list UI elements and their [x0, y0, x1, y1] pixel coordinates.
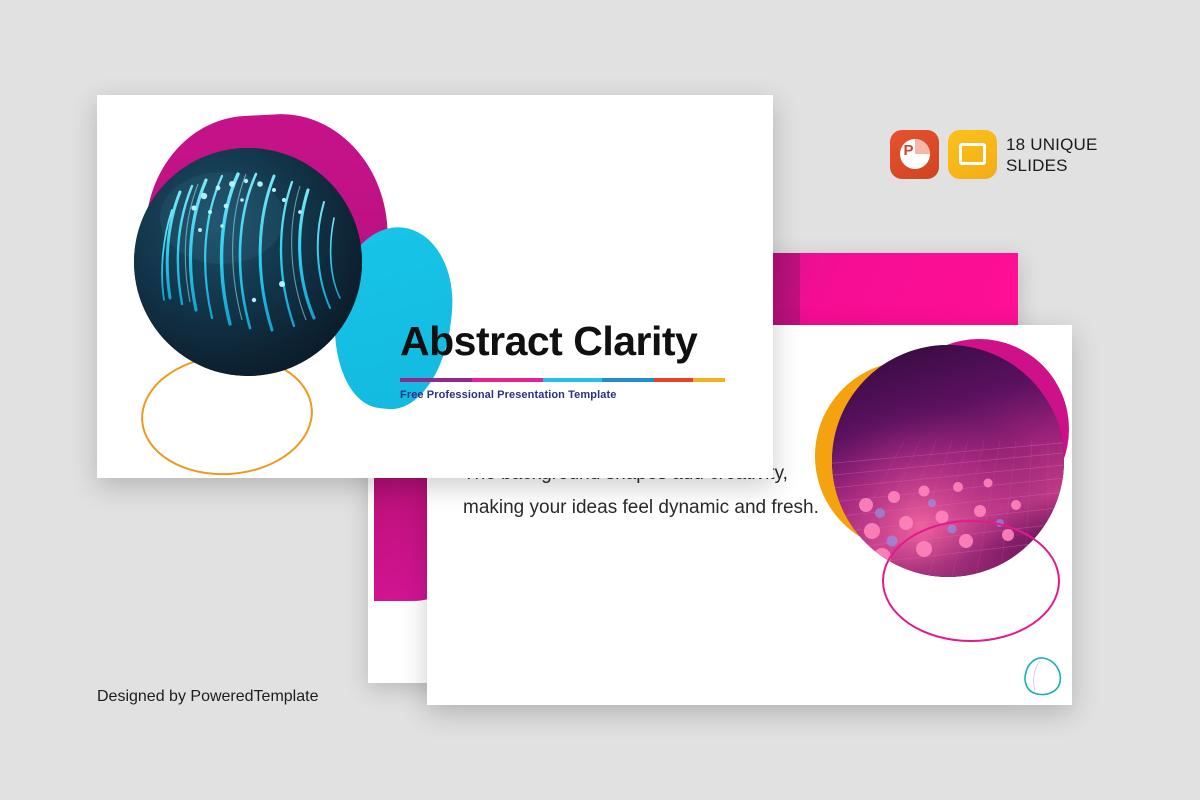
page-title: Abstract Clarity [400, 316, 740, 366]
fiber-optic-sphere-photo [134, 148, 362, 376]
powerpoint-letter: P [901, 143, 916, 158]
slide-thumbnail-front[interactable]: Abstract Clarity Free Professional Prese… [97, 95, 773, 478]
divider-segment-amber [693, 378, 726, 382]
slides-screen-glyph [959, 143, 986, 165]
screenshot-canvas: way that's easy to follow. Use icons, bu… [0, 0, 1200, 800]
page-subtitle: Free Professional Presentation Template [400, 389, 740, 401]
format-badge-row: P 18 UNIQUE SLIDES [890, 130, 1098, 179]
divider-segment-cyan [543, 378, 602, 382]
divider-segment-red [654, 378, 693, 382]
designer-credit: Designed by PoweredTemplate [97, 688, 318, 706]
pink-ring-shape [882, 520, 1060, 642]
color-divider-bar [400, 378, 725, 382]
slide-count-label: 18 UNIQUE SLIDES [1006, 134, 1098, 176]
google-slides-icon [948, 130, 997, 179]
title-block: Abstract Clarity Free Professional Prese… [400, 316, 740, 401]
teal-scribble-icon [1021, 655, 1065, 697]
powerpoint-icon: P [890, 130, 939, 179]
divider-segment-blue [602, 378, 654, 382]
divider-segment-purple [400, 378, 472, 382]
divider-segment-magenta [472, 378, 544, 382]
